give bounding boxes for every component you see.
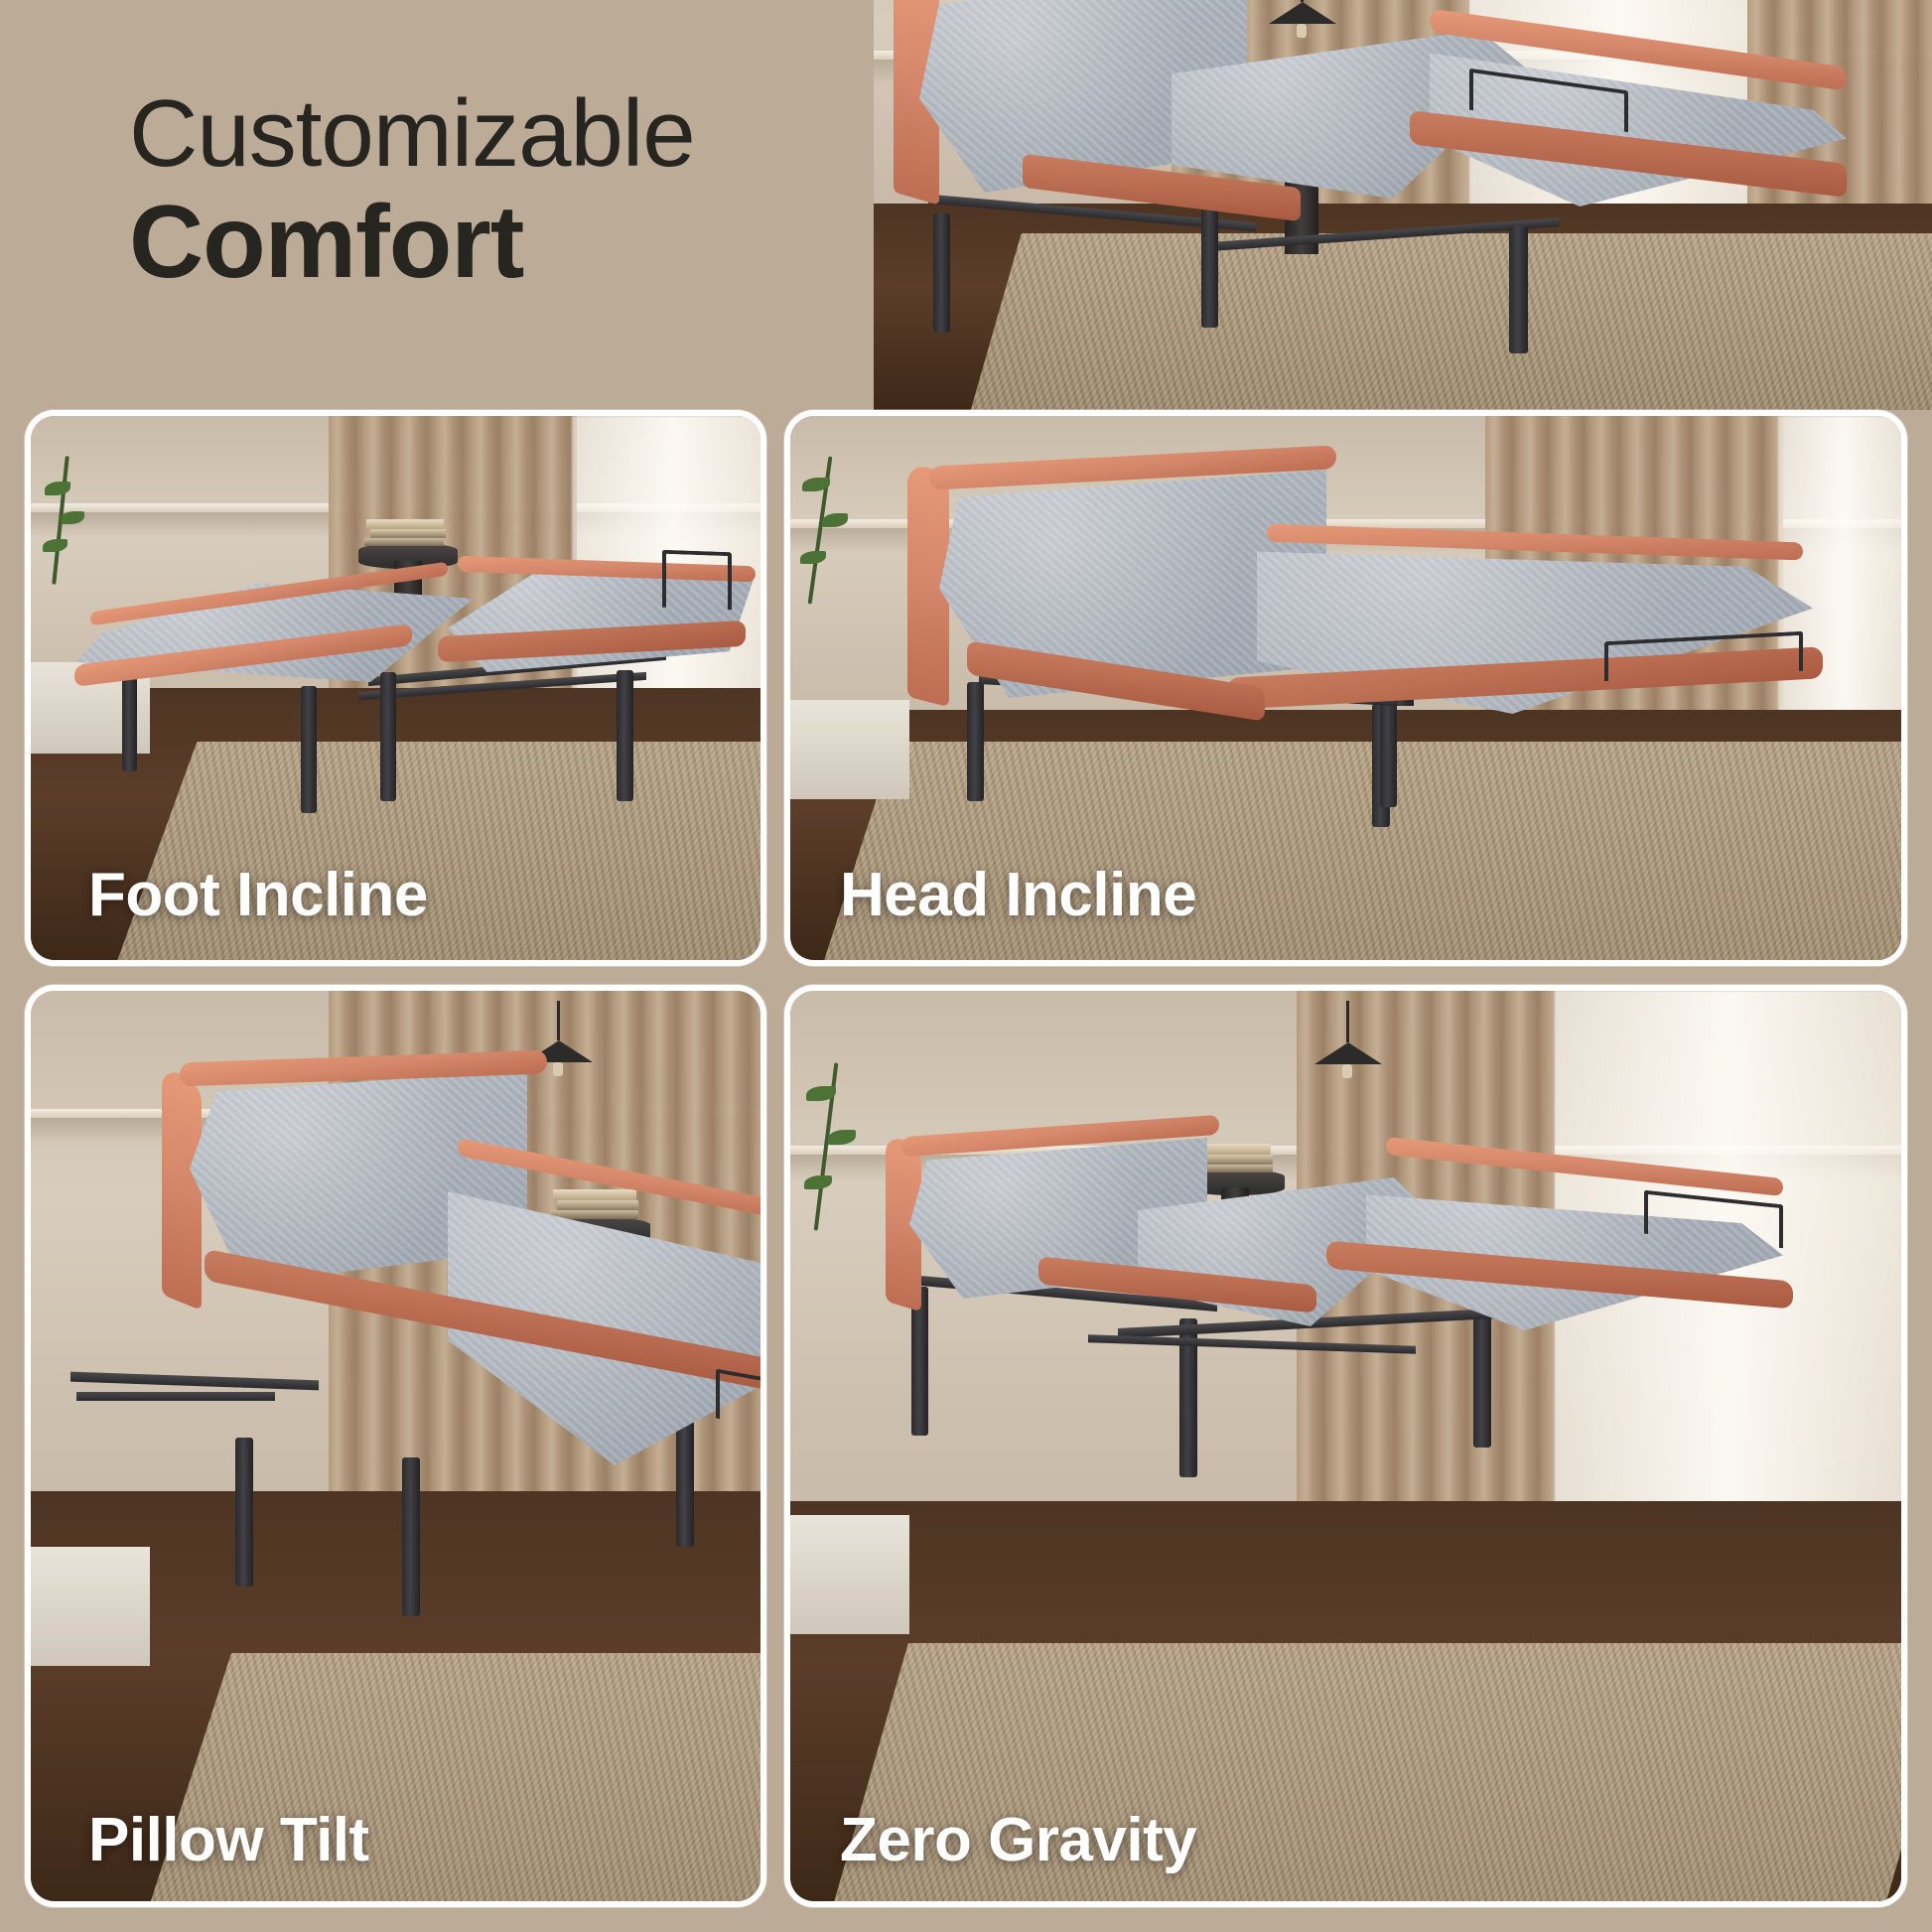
- bed-leg: [617, 670, 633, 801]
- panel-foot-incline[interactable]: Foot Incline: [25, 410, 766, 966]
- mattress-retainer-bar: [662, 550, 732, 610]
- page-headline: Customizable Comfort: [129, 85, 884, 296]
- bed-leg: [301, 686, 317, 813]
- jute-rug: [964, 233, 1932, 410]
- bed-leg: [380, 672, 396, 801]
- bed-frame-bar: [76, 1392, 275, 1401]
- bed-leg: [933, 213, 950, 333]
- pendant-lamp-shade: [1269, 2, 1336, 24]
- bed-leg: [1473, 1299, 1491, 1448]
- pendant-lamp-shade: [1314, 1042, 1382, 1064]
- bed-leg: [1201, 208, 1218, 328]
- headline-line-2: Comfort: [129, 190, 884, 296]
- floor-plinth: [31, 1547, 150, 1666]
- pendant-lamp-bulb: [553, 1062, 563, 1076]
- book: [553, 1189, 636, 1200]
- panel-head-incline[interactable]: Head Incline: [784, 410, 1907, 966]
- floor-plinth: [790, 700, 909, 799]
- scene-zero-gravity: [790, 991, 1901, 1901]
- bed-leg: [402, 1457, 420, 1616]
- bed-leg: [967, 682, 984, 801]
- pendant-lamp-bulb: [1297, 24, 1307, 38]
- pendant-lamp-bulb: [1342, 1064, 1352, 1078]
- panel-caption-zero-gravity: Zero Gravity: [840, 1805, 1196, 1875]
- panel-caption-pillow-tilt: Pillow Tilt: [88, 1805, 369, 1875]
- headline-line-1: Customizable: [129, 85, 884, 184]
- scene-pillow-tilt: [31, 991, 760, 1901]
- book: [557, 1200, 638, 1210]
- hero-scene-adjustable-bed: [874, 0, 1932, 410]
- bed-leg: [1509, 226, 1528, 353]
- bed-leg: [1380, 696, 1397, 807]
- pendant-lamp-cord: [1346, 1001, 1349, 1042]
- panel-zero-gravity[interactable]: Zero Gravity: [784, 985, 1907, 1907]
- panel-pillow-tilt[interactable]: Pillow Tilt: [25, 985, 766, 1907]
- panel-caption-head-incline: Head Incline: [840, 860, 1196, 930]
- bed-leg: [235, 1438, 253, 1587]
- hero-banner: Customizable Comfort: [0, 0, 1932, 410]
- book: [370, 529, 446, 538]
- book: [366, 519, 444, 529]
- panel-caption-foot-incline: Foot Incline: [88, 860, 428, 930]
- bed-rail-pillow-left: [162, 1066, 202, 1311]
- book: [551, 1210, 638, 1219]
- pendant-lamp-cord: [557, 1001, 560, 1040]
- floor-plinth: [790, 1515, 909, 1634]
- book: [364, 538, 444, 546]
